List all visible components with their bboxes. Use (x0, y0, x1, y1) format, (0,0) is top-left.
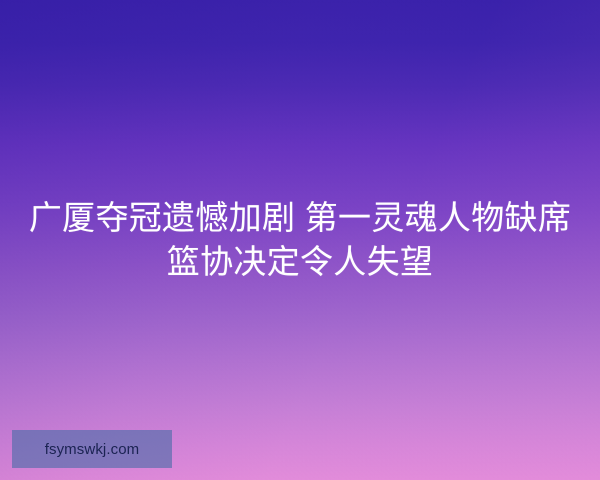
watermark-label: fsymswkj.com (45, 442, 140, 457)
headline-text: 广厦夺冠遗憾加剧 第一灵魂人物缺席篮协决定令人失望 (0, 196, 600, 284)
image-canvas: 广厦夺冠遗憾加剧 第一灵魂人物缺席篮协决定令人失望 fsymswkj.com (0, 0, 600, 480)
watermark-badge: fsymswkj.com (12, 430, 172, 468)
